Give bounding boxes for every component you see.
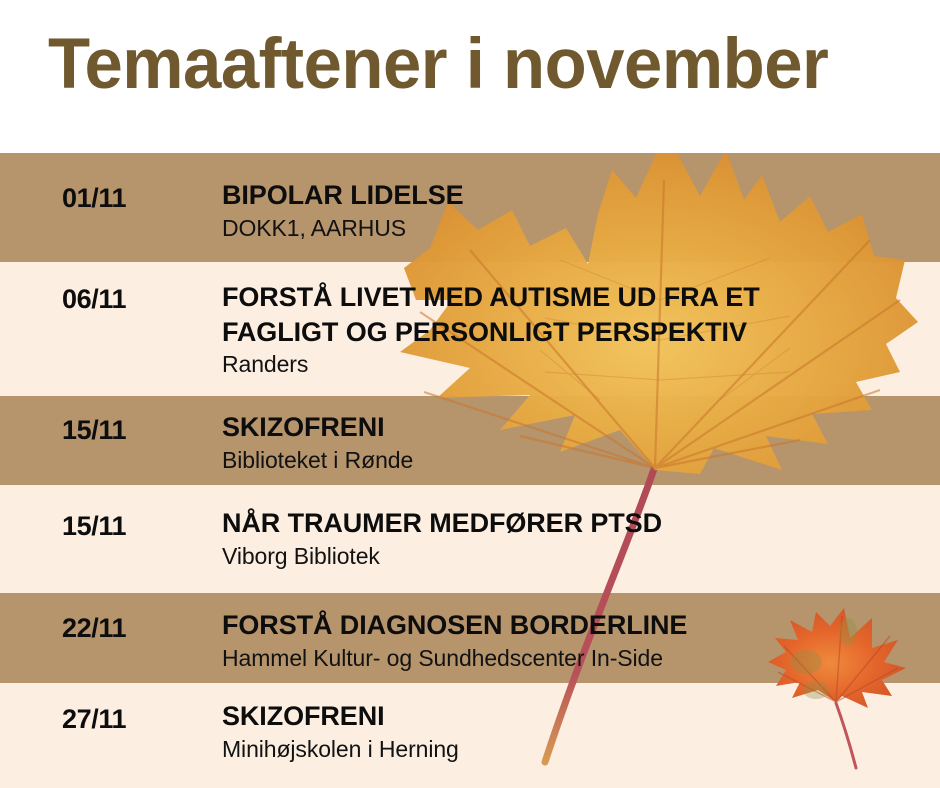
event-title: FORSTÅ DIAGNOSEN BORDERLINE xyxy=(222,608,687,643)
event-date: 22/11 xyxy=(62,613,126,644)
event-title: BIPOLAR LIDELSE xyxy=(222,178,464,213)
event-body: SKIZOFRENIBiblioteket i Rønde xyxy=(222,410,413,474)
event-body: SKIZOFRENIMinihøjskolen i Herning xyxy=(222,699,459,763)
header-bar: Temaaftener i november xyxy=(0,0,940,153)
event-title: SKIZOFRENI xyxy=(222,410,413,445)
event-title: NÅR TRAUMER MEDFØRER PTSD xyxy=(222,506,662,541)
event-date: 01/11 xyxy=(62,183,126,214)
event-title: SKIZOFRENI xyxy=(222,699,459,734)
event-body: BIPOLAR LIDELSEDOKK1, AARHUS xyxy=(222,178,464,242)
event-title: FORSTÅ LIVET MED AUTISME UD FRA ET FAGLI… xyxy=(222,280,760,349)
event-row[interactable]: 22/11FORSTÅ DIAGNOSEN BORDERLINEHammel K… xyxy=(0,593,940,683)
page-title: Temaaftener i november xyxy=(48,28,828,103)
event-venue: Randers xyxy=(222,350,760,379)
event-venue: Minihøjskolen i Herning xyxy=(222,735,459,764)
event-date: 27/11 xyxy=(62,704,126,735)
event-row[interactable]: 15/11NÅR TRAUMER MEDFØRER PTSDViborg Bib… xyxy=(0,485,940,593)
event-row[interactable]: 27/11SKIZOFRENIMinihøjskolen i Herning xyxy=(0,683,940,788)
event-venue: Hammel Kultur- og Sundhedscenter In-Side xyxy=(222,644,687,673)
event-row[interactable]: 15/11SKIZOFRENIBiblioteket i Rønde xyxy=(0,396,940,485)
event-date: 06/11 xyxy=(62,284,126,315)
event-venue: Viborg Bibliotek xyxy=(222,542,662,571)
event-venue: DOKK1, AARHUS xyxy=(222,214,464,243)
event-body: FORSTÅ LIVET MED AUTISME UD FRA ET FAGLI… xyxy=(222,280,760,379)
poster-canvas: 01/11BIPOLAR LIDELSEDOKK1, AARHUS06/11FO… xyxy=(0,0,940,788)
event-date: 15/11 xyxy=(62,511,126,542)
event-body: FORSTÅ DIAGNOSEN BORDERLINEHammel Kultur… xyxy=(222,608,687,672)
event-row[interactable]: 06/11FORSTÅ LIVET MED AUTISME UD FRA ET … xyxy=(0,262,940,396)
event-body: NÅR TRAUMER MEDFØRER PTSDViborg Bibliote… xyxy=(222,506,662,570)
event-row[interactable]: 01/11BIPOLAR LIDELSEDOKK1, AARHUS xyxy=(0,153,940,262)
event-date: 15/11 xyxy=(62,415,126,446)
event-venue: Biblioteket i Rønde xyxy=(222,446,413,475)
